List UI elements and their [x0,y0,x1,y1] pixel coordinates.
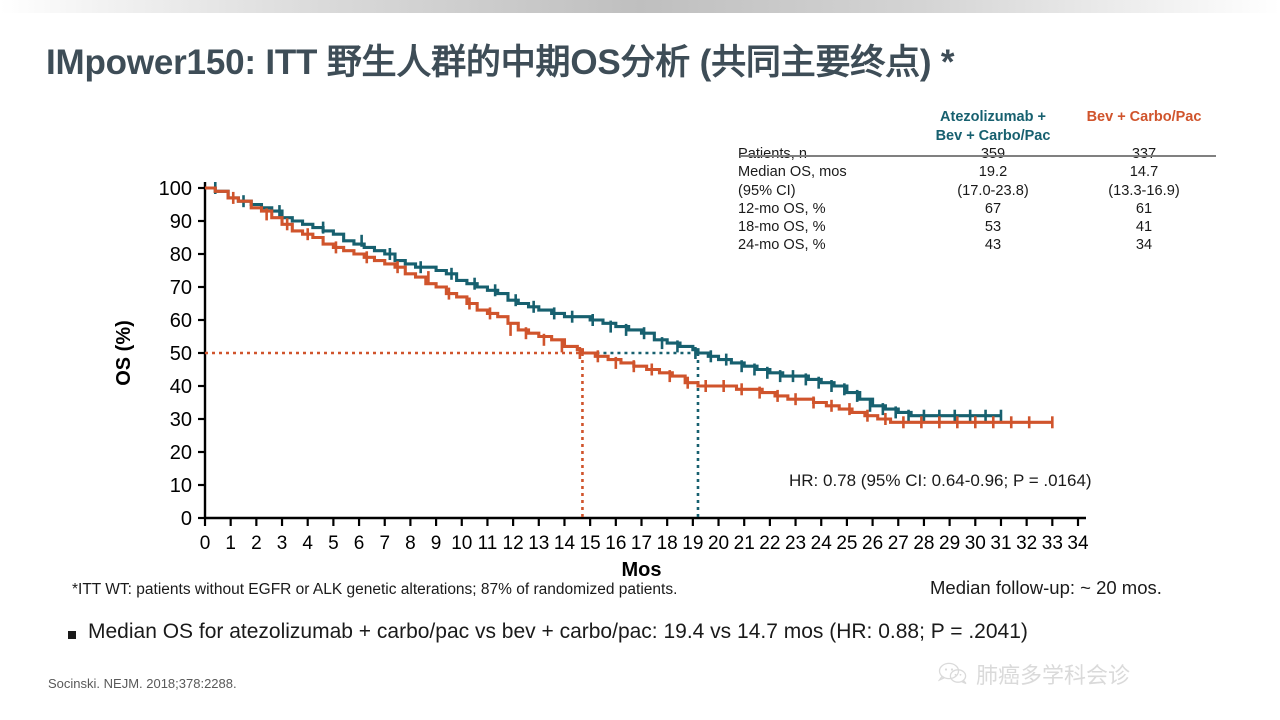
x-axis-tick-label: 14 [554,533,576,554]
x-axis-tick-label: 31 [990,533,1011,554]
x-axis-tick-label: 4 [302,533,313,554]
table-header-arm-a: Atezolizumab + Bev + Carbo/Pac [918,108,1068,145]
x-axis-tick-label: 23 [785,533,806,554]
table-cell-arm-b: 41 [1068,218,1220,236]
y-axis-tick-label: 70 [170,277,192,299]
table-cell-arm-a: 43 [918,236,1068,254]
summary-bullet: Median OS for atezolizumab + carbo/pac v… [68,620,1248,644]
table-cell-label: Median OS, mos(95% CI) [738,163,918,199]
wechat-icon [938,662,968,686]
summary-table: Atezolizumab + Bev + Carbo/Pac Bev + Car… [738,108,1220,255]
x-axis-tick-label: 3 [277,533,288,554]
x-axis-tick-label: 21 [734,533,755,554]
x-axis-tick-label: 28 [913,533,934,554]
x-axis-tick-label: 20 [708,533,729,554]
x-axis-tick-label: 25 [836,533,857,554]
x-axis-tick-label: 30 [965,533,986,554]
y-axis-tick-label: 10 [170,475,192,497]
hazard-ratio-annotation: HR: 0.78 (95% CI: 0.64-0.96; P = .0164) [789,471,1092,491]
watermark-text: 肺癌多学科会诊 [976,658,1130,690]
summary-bullet-text: Median OS for atezolizumab + carbo/pac v… [88,620,1028,644]
x-axis-tick-label: 22 [759,533,780,554]
x-axis-tick-label: 8 [405,533,416,554]
table-cell-label: 24-mo OS, % [738,236,918,254]
y-axis-tick-label: 100 [159,178,192,200]
x-axis-tick-label: 10 [451,533,472,554]
table-cell-arm-a: 53 [918,218,1068,236]
x-axis-tick-label: 11 [478,533,498,554]
x-axis-tick-label: 15 [580,533,601,554]
x-axis-tick-label: 2 [251,533,262,554]
x-axis-tick-label: 12 [503,533,524,554]
x-axis-tick-label: 29 [939,533,960,554]
table-cell-arm-a: 67 [918,200,1068,218]
y-axis-tick-label: 40 [170,376,192,398]
page-title: IMpower150: ITT 野生人群的中期OS分析 (共同主要终点) * [46,34,1266,85]
x-axis-tick-label: 32 [1016,533,1037,554]
table-header-arm-b: Bev + Carbo/Pac [1068,108,1220,145]
bullet-square-icon [68,631,76,639]
y-axis-tick-label: 90 [170,211,192,233]
top-decorative-bar [0,0,1280,13]
x-axis-tick-label: 13 [528,533,549,554]
table-row: 18-mo OS, %5341 [738,218,1220,236]
table-cell-label: 12-mo OS, % [738,200,918,218]
table-row: 24-mo OS, %4334 [738,236,1220,254]
y-axis-tick-label: 50 [170,343,192,365]
x-axis-tick-label: 19 [682,533,703,554]
table-header-label [738,108,918,145]
footnote-text: *ITT WT: patients without EGFR or ALK ge… [72,581,677,599]
x-axis-tick-label: 17 [631,533,652,554]
table-body: Patients, n359337Median OS, mos(95% CI)1… [738,145,1220,254]
citation-text: Socinski. NEJM. 2018;378:2288. [48,676,237,691]
table-header-arm-a-line2: Bev + Carbo/Pac [918,127,1068,146]
y-axis-tick-label: 20 [170,442,192,464]
table-cell-arm-b: 34 [1068,236,1220,254]
y-axis-title: OS (%) [113,320,135,386]
x-axis-tick-label: 33 [1042,533,1063,554]
x-axis-tick-label: 7 [379,533,390,554]
y-axis-tick-label: 60 [170,310,192,332]
table-header-row: Atezolizumab + Bev + Carbo/Pac Bev + Car… [738,108,1220,145]
x-axis-tick-label: 26 [862,533,883,554]
y-axis-tick-label: 80 [170,244,192,266]
x-axis-tick-label: 16 [605,533,626,554]
table-cell-arm-b: 14.7(13.3-16.9) [1068,163,1220,199]
table-header-arm-a-line1: Atezolizumab + [918,108,1068,127]
median-followup-text: Median follow-up: ~ 20 mos. [930,577,1162,599]
x-axis-tick-label: 18 [657,533,678,554]
y-axis-tick-label: 30 [170,409,192,431]
x-axis-tick-label: 5 [328,533,339,554]
x-axis-tick-label: 34 [1067,533,1089,554]
x-axis-tick-label: 1 [225,533,236,554]
x-axis-tick-label: 24 [811,533,833,554]
x-axis-tick-label: 9 [431,533,442,554]
table-header-divider [741,155,1216,157]
x-axis-tick-label: 27 [888,533,909,554]
x-axis-tick-label: 6 [354,533,365,554]
x-axis-title: Mos [622,559,662,581]
table-cell-arm-a: 19.2(17.0-23.8) [918,163,1068,199]
watermark: 肺癌多学科会诊 [938,658,1130,690]
y-axis-tick-label: 0 [181,508,192,530]
table-cell-label: 18-mo OS, % [738,218,918,236]
table-row: 12-mo OS, %6761 [738,200,1220,218]
x-axis-tick-label: 0 [200,533,211,554]
table-cell-arm-b: 61 [1068,200,1220,218]
table-row: Median OS, mos(95% CI)19.2(17.0-23.8)14.… [738,163,1220,199]
